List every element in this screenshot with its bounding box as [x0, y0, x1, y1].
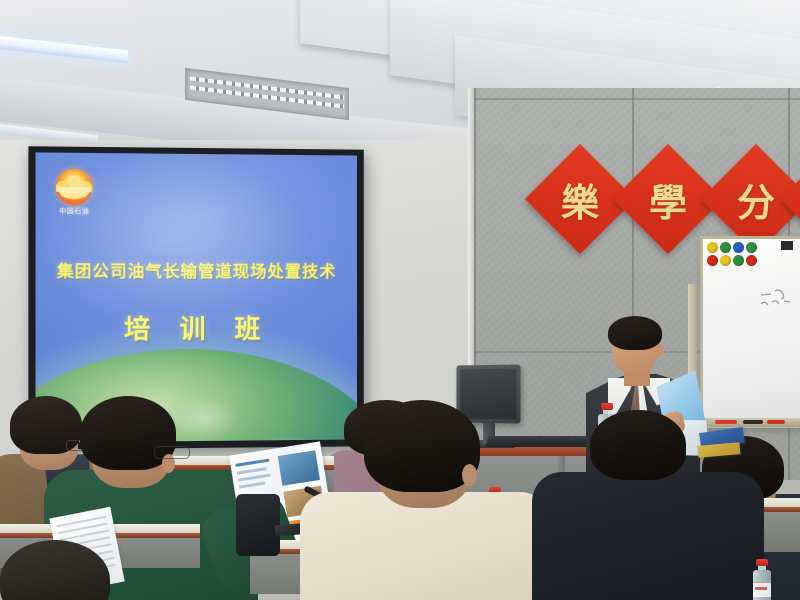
slide-title: 集团公司油气长输管道现场处置技术 [36, 258, 357, 283]
attendee-hair [0, 540, 110, 600]
attendee-ear [462, 464, 477, 486]
glasses-icon [154, 446, 190, 459]
wall-seam [470, 98, 800, 100]
plaque-character: 學 [629, 160, 707, 238]
whiteboard-handwriting [759, 285, 800, 315]
ceiling-light-icon [0, 33, 128, 63]
speaker-ear [655, 344, 664, 357]
attendee-foreground-head [0, 540, 120, 600]
slide-subtitle: 培 训 班 [36, 309, 357, 347]
logo-brand-text: 中国石油 [54, 206, 95, 216]
cnpc-logo-icon: 中国石油 [54, 169, 95, 218]
chair-back [236, 494, 280, 556]
whiteboard-clip [781, 241, 793, 250]
conference-room-photo: 樂 學 分 享 中国石油 集团公司油气长输管道现场处置技术 培 [0, 0, 800, 600]
plaque-character: 樂 [541, 160, 619, 238]
plaque-character: 享 [793, 168, 800, 230]
water-bottle [753, 560, 771, 600]
attendee-torso [532, 472, 764, 600]
magnet-group [707, 242, 769, 268]
attendee-torso [300, 492, 550, 600]
attendee-hair [590, 410, 686, 480]
speaker-hair [608, 316, 662, 350]
whiteboard [700, 236, 800, 428]
